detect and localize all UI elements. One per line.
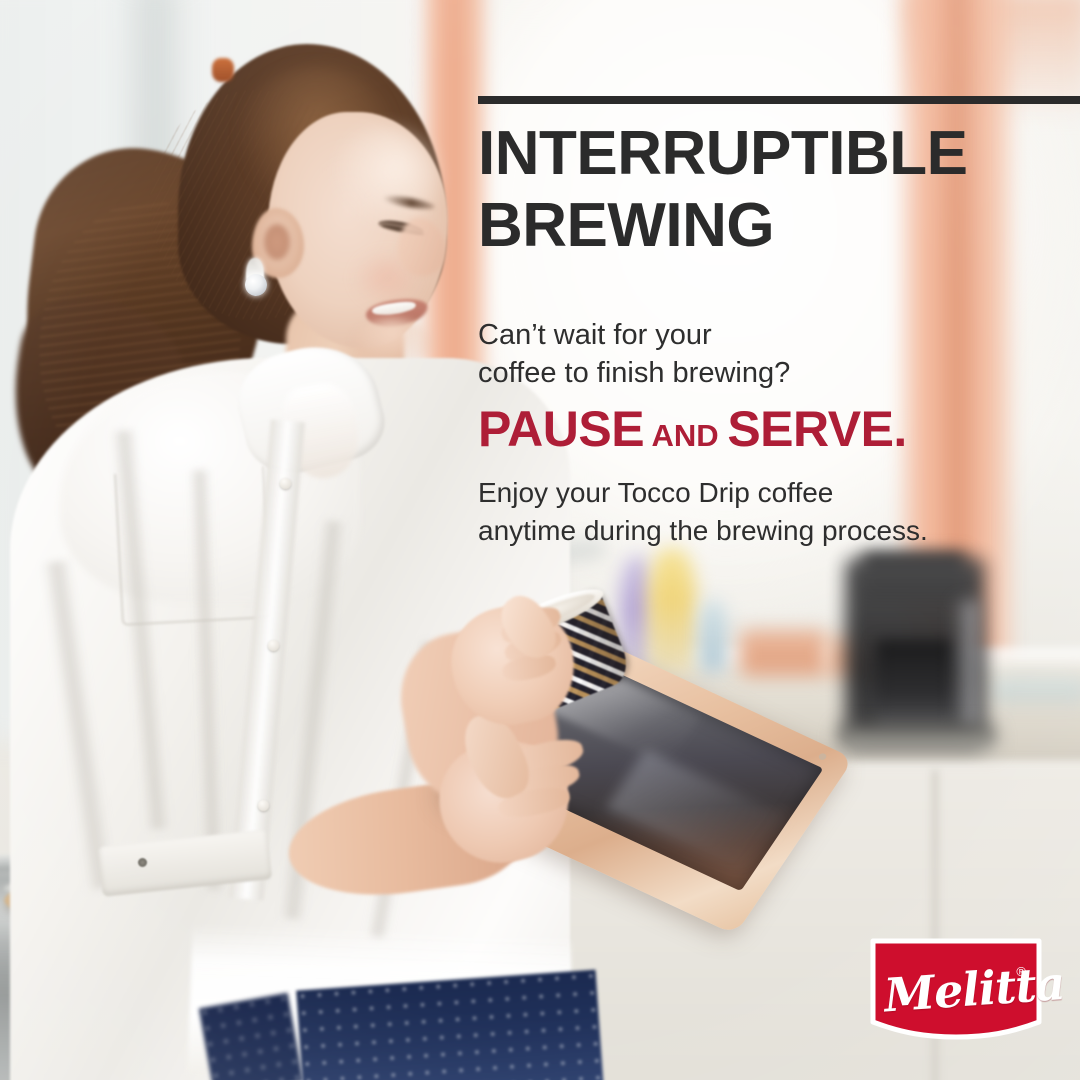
earring-gem xyxy=(245,274,267,296)
header-rule xyxy=(478,96,1080,104)
shirt-pocket xyxy=(114,466,272,626)
body-copy: Enjoy your Tocco Drip coffee anytime dur… xyxy=(478,474,1038,550)
advertisement-canvas: INTERRUPTIBLE BREWING Can’t wait for you… xyxy=(0,0,1080,1080)
copy-block: INTERRUPTIBLE BREWING Can’t wait for you… xyxy=(478,0,1080,1080)
tagline-trail: SERVE. xyxy=(727,401,907,457)
tagline: PAUSE AND SERVE. xyxy=(478,400,1078,465)
subheading-question: Can’t wait for your coffee to finish bre… xyxy=(478,316,1038,392)
page-title: INTERRUPTIBLE BREWING xyxy=(478,118,1038,262)
jeans-polka-dot-left xyxy=(199,993,303,1080)
ear-inner xyxy=(264,224,290,260)
forehead-highlight xyxy=(330,126,440,232)
tagline-conjunction: AND xyxy=(644,418,727,453)
logo-wordmark: Melitta xyxy=(882,952,1017,1031)
shirt-button xyxy=(268,640,279,651)
woman-subject xyxy=(0,0,560,1080)
shirt-button xyxy=(280,478,291,489)
registered-trademark-icon: ® xyxy=(1016,964,1026,979)
tagline-lead: PAUSE xyxy=(478,401,644,457)
shirt-button xyxy=(258,800,269,811)
cuff-button xyxy=(138,858,147,867)
melitta-logo: Melitta ® xyxy=(870,938,1042,1042)
hair-tie xyxy=(212,58,234,82)
